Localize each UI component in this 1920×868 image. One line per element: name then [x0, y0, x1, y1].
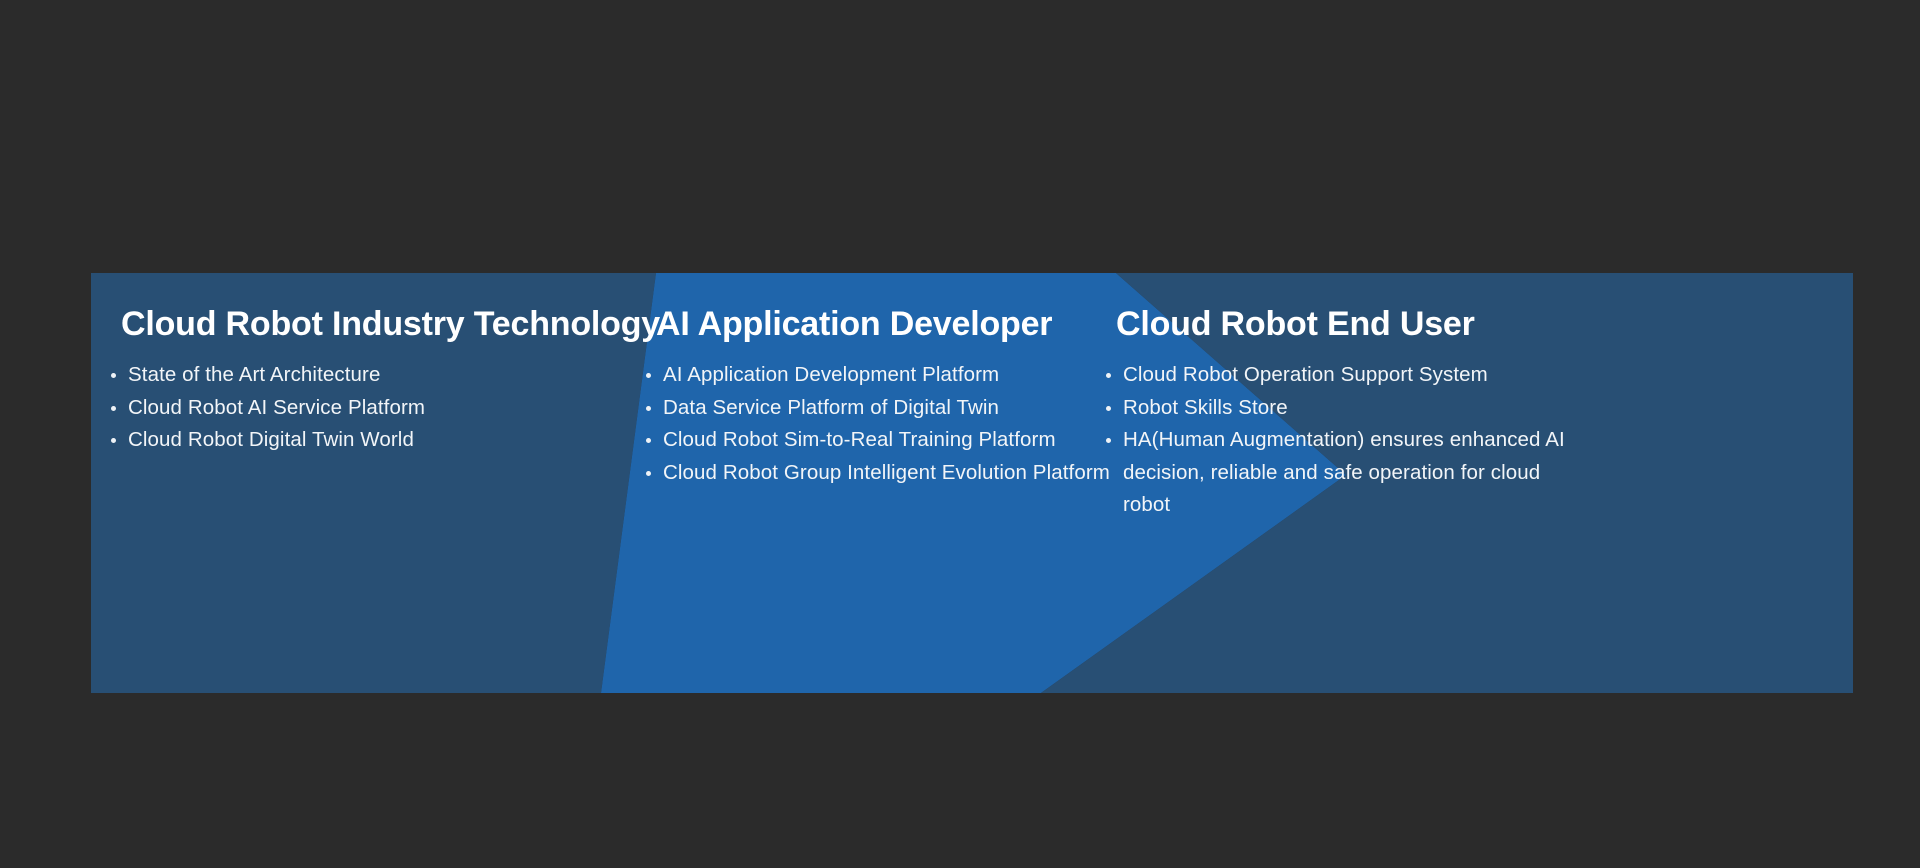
bullet-text: State of the Art Architecture: [128, 363, 380, 386]
bullet-list-1: State of the Art Architecture Cloud Robo…: [107, 359, 667, 457]
list-item: Robot Skills Store: [1102, 392, 1582, 425]
list-item: Cloud Robot Operation Support System: [1102, 359, 1582, 392]
bullet-dot-icon: [1106, 438, 1111, 443]
bullet-text: Cloud Robot AI Service Platform: [128, 396, 425, 419]
list-item: AI Application Development Platform: [642, 359, 1142, 392]
list-item: Cloud Robot Digital Twin World: [107, 424, 667, 457]
bullet-text: Cloud Robot Sim-to-Real Training Platfor…: [663, 428, 1056, 451]
bullet-dot-icon: [111, 438, 116, 443]
bullet-text: Cloud Robot Digital Twin World: [128, 428, 414, 451]
list-item: HA(Human Augmentation) ensures enhanced …: [1102, 424, 1582, 522]
bullet-dot-icon: [646, 406, 651, 411]
bullet-dot-icon: [646, 373, 651, 378]
bullet-text: Cloud Robot Group Intelligent Evolution …: [663, 461, 1110, 484]
bullet-text: Cloud Robot Operation Support System: [1123, 363, 1488, 386]
list-item: Cloud Robot Group Intelligent Evolution …: [642, 457, 1142, 490]
bullet-dot-icon: [646, 471, 651, 476]
bullet-dot-icon: [1106, 373, 1111, 378]
list-item: Data Service Platform of Digital Twin: [642, 392, 1142, 425]
bullet-dot-icon: [646, 438, 651, 443]
panel-ai-application-developer: AI Application Developer AI Application …: [656, 273, 1156, 693]
bullet-dot-icon: [111, 373, 116, 378]
bullet-list-2: AI Application Development Platform Data…: [642, 359, 1142, 489]
bullet-text: Robot Skills Store: [1123, 396, 1288, 419]
panel-title-1: Cloud Robot Industry Technology: [121, 304, 660, 345]
bullet-text: HA(Human Augmentation) ensures enhanced …: [1123, 428, 1565, 516]
panel-cloud-robot-end-user: Cloud Robot End User Cloud Robot Operati…: [1116, 273, 1853, 693]
list-item: Cloud Robot Sim-to-Real Training Platfor…: [642, 424, 1142, 457]
panel-text-columns: Cloud Robot Industry Technology State of…: [91, 273, 1853, 693]
slide-canvas: Cloud Robot Industry Technology State of…: [0, 0, 1920, 868]
bullet-text: AI Application Development Platform: [663, 363, 999, 386]
panel-title-3: Cloud Robot End User: [1116, 304, 1475, 345]
bullet-dot-icon: [1106, 406, 1111, 411]
bullet-text: Data Service Platform of Digital Twin: [663, 396, 999, 419]
value-chain-banner: Cloud Robot Industry Technology State of…: [91, 273, 1853, 693]
list-item: Cloud Robot AI Service Platform: [107, 392, 667, 425]
list-item: State of the Art Architecture: [107, 359, 667, 392]
panel-cloud-robot-industry-technology: Cloud Robot Industry Technology State of…: [91, 273, 711, 693]
bullet-dot-icon: [111, 406, 116, 411]
bullet-list-3: Cloud Robot Operation Support System Rob…: [1102, 359, 1582, 522]
panel-title-2: AI Application Developer: [656, 304, 1052, 345]
